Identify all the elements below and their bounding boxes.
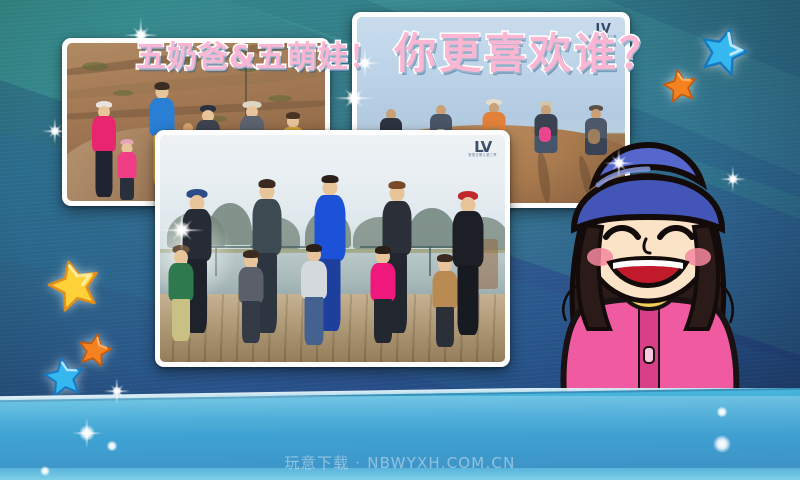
site-watermark: 玩意下载 · NBWYXH.COM.CN [0, 452, 800, 473]
dock-scene [160, 135, 505, 362]
kid-1 [168, 245, 194, 341]
banner-title: 五奶爸&五萌娃！你更喜欢谁？ [0, 20, 800, 81]
lv-watermark-sub: 爸爸去哪儿第三季 [468, 153, 497, 157]
title-part-1: 五奶爸&五萌娃！ [136, 32, 380, 76]
lv-watermark: LV 爸爸去哪儿第三季 [468, 142, 497, 157]
kid-4 [370, 249, 396, 343]
photo-dock-image: LV 爸爸去哪儿第三季 [160, 135, 505, 362]
photo-dock[interactable]: LV 爸爸去哪儿第三季 [155, 130, 510, 367]
lv-watermark-mark: LV [468, 142, 497, 153]
kid-2 [238, 253, 264, 345]
person-adult-1 [91, 101, 117, 201]
banner-glow [0, 396, 800, 436]
person-child-1 [117, 139, 137, 201]
title-part-2: 你更喜欢谁？ [394, 20, 664, 81]
kid-3 [300, 247, 327, 345]
poster-canvas: LV 爸爸去哪儿第三季 [0, 0, 800, 480]
cartoon-girl-mascot [540, 133, 755, 413]
kid-5 [432, 257, 458, 347]
